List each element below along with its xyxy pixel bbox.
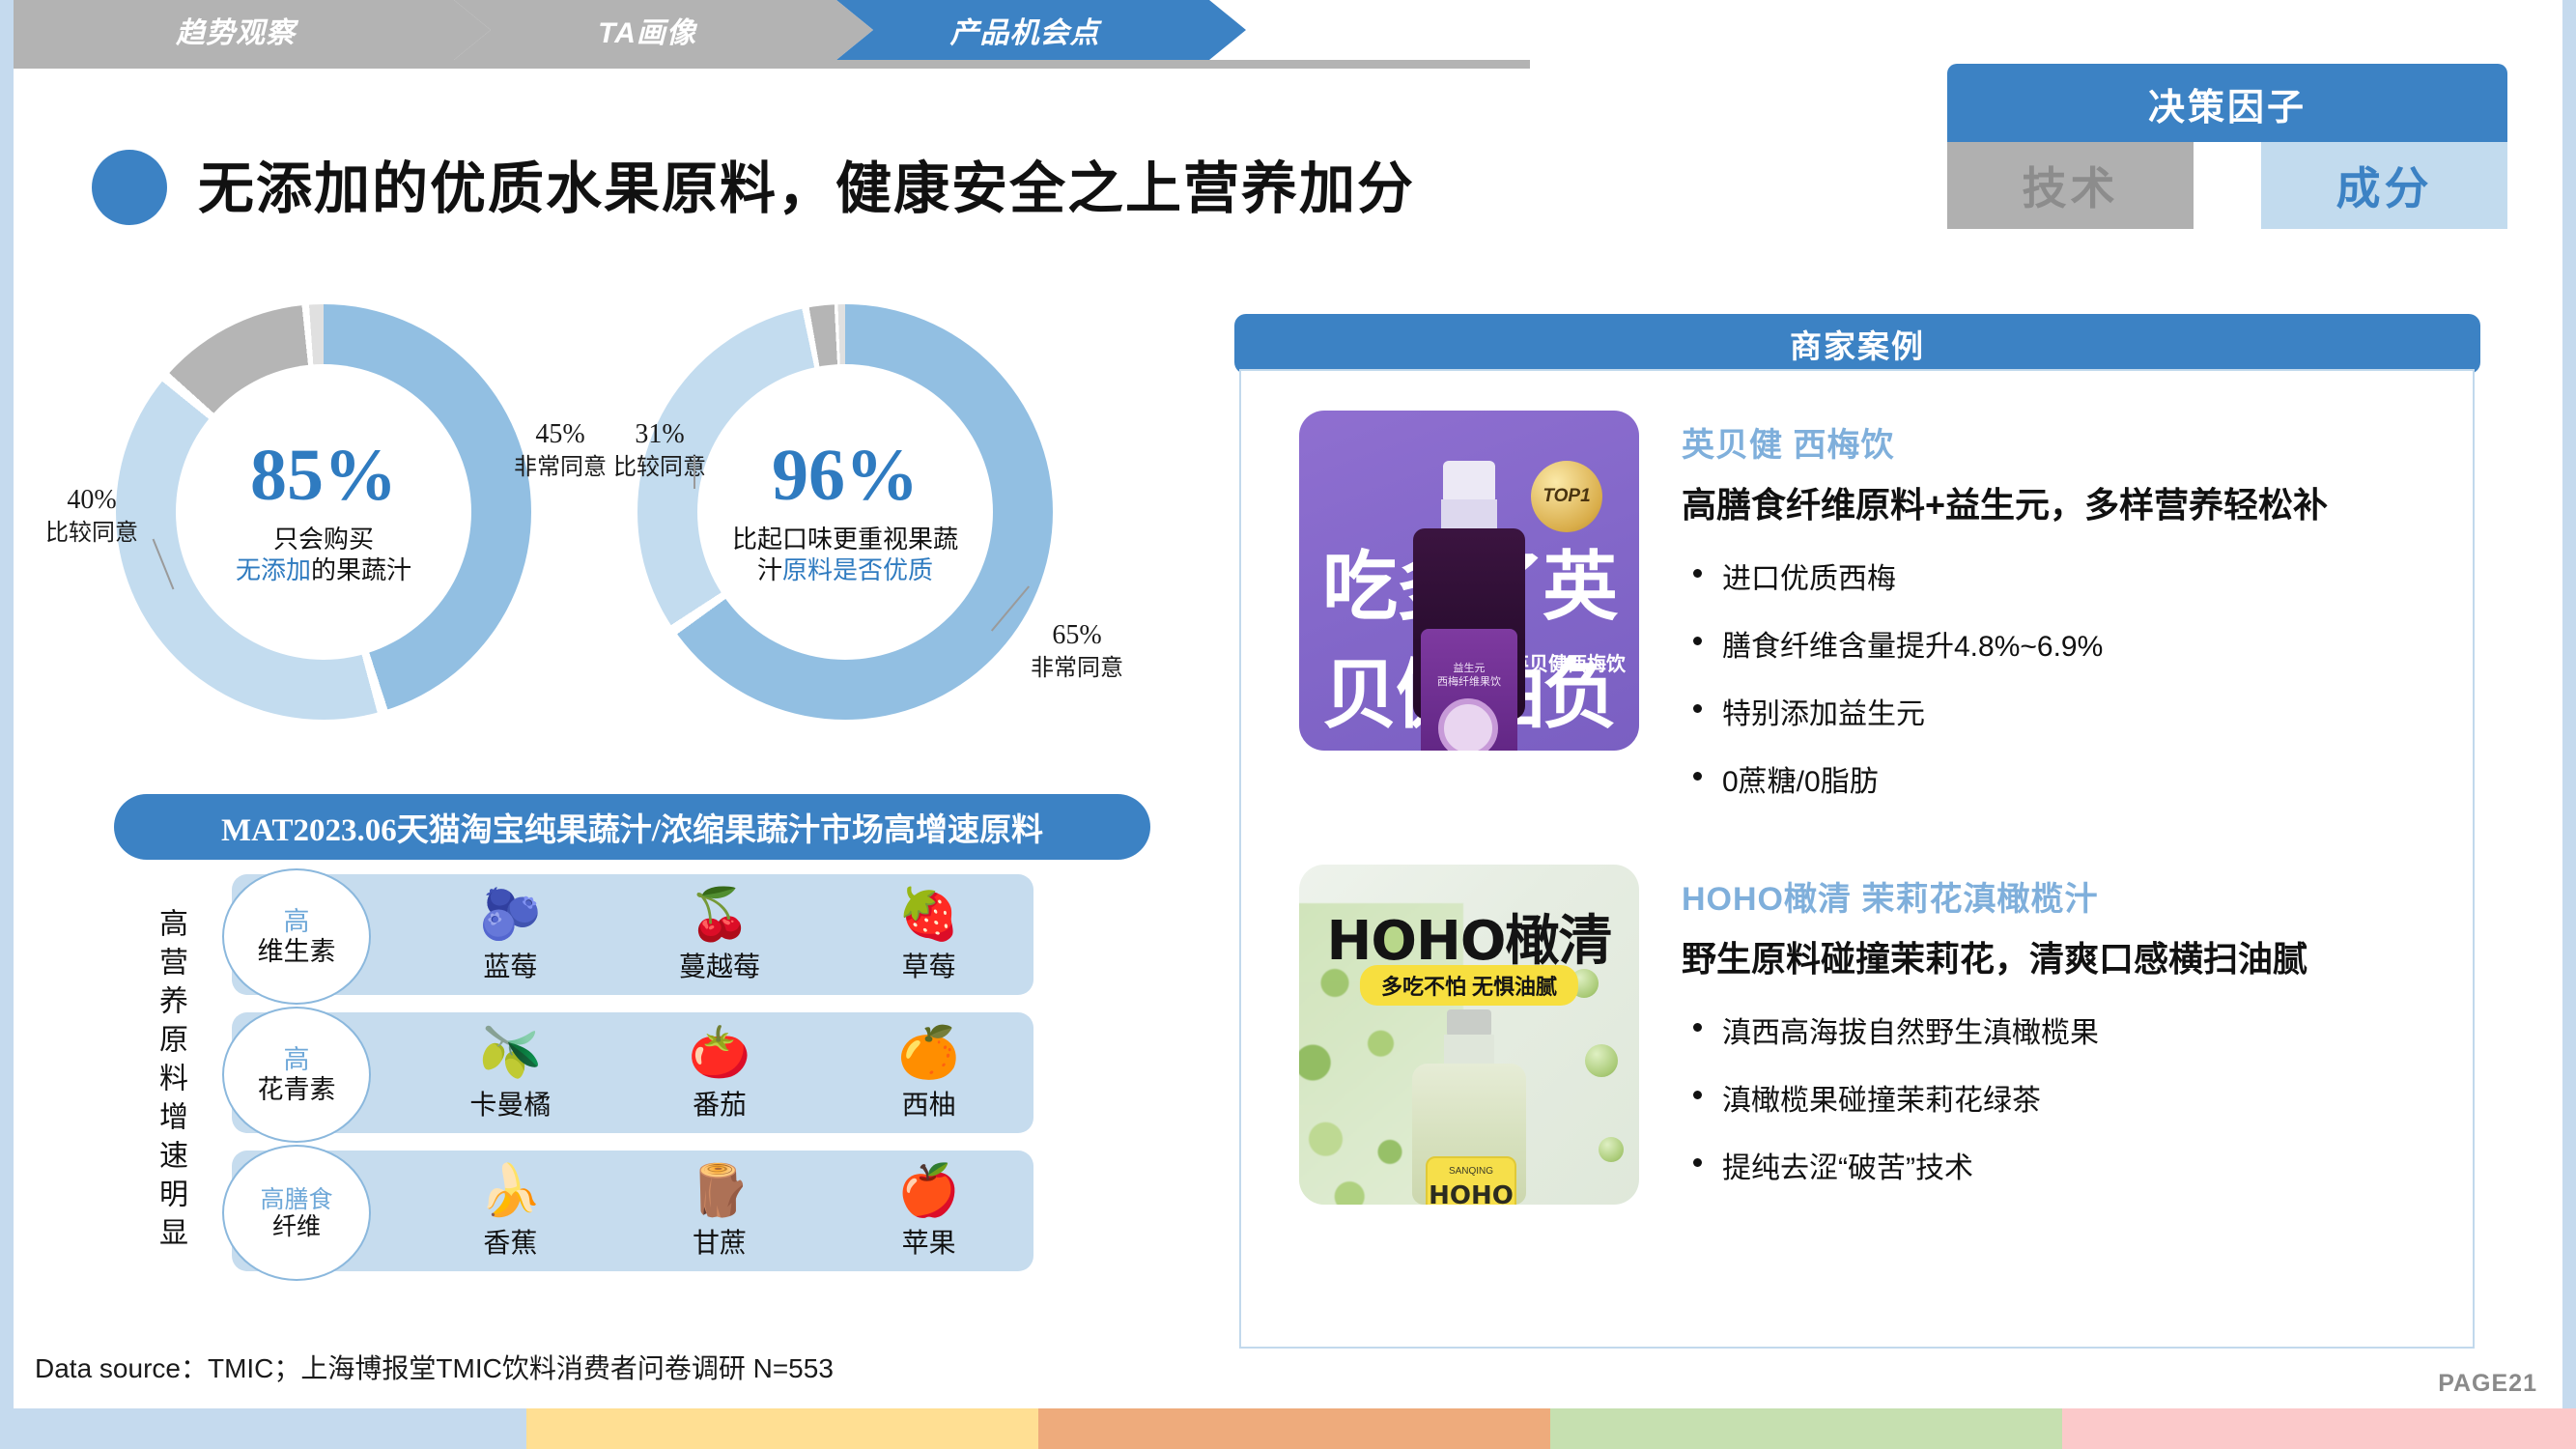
donut-caption-plain: 的果蔬汁 xyxy=(311,555,411,584)
merchant-case-brand: HOHO橄清 茉莉花滇橄榄汁 xyxy=(1682,872,2483,920)
market-vertical-label: 高营养原料增速明显 xyxy=(143,874,197,1290)
ingredient-item[interactable]: 🍎 苹果 xyxy=(824,1162,1033,1261)
bullet-item: 膳食纤维含量提升4.8%~6.9% xyxy=(1682,622,2483,665)
decision-option-ingredient[interactable]: 成分 xyxy=(2261,142,2507,229)
olive-berry-icon xyxy=(1599,1137,1624,1162)
donut-caption-line2: 汁原料是否优质 xyxy=(732,554,958,586)
bullet-item: 进口优质西梅 xyxy=(1682,554,2483,597)
bullet-item: 滇西高海拔自然野生滇橄榄果 xyxy=(1682,1009,2483,1051)
plum-graphic-icon xyxy=(1438,698,1498,751)
ingredient-category-badge: 高 花青素 xyxy=(222,1007,371,1143)
donut1-label-somewhat-agree: 40% 比较同意 xyxy=(19,483,164,549)
donut-center-caption: 只会购买 无添加的果蔬汁 xyxy=(236,524,411,586)
footer-color-bar xyxy=(0,1408,2576,1449)
category-name: 维生素 xyxy=(258,937,336,966)
donut2-leader-line xyxy=(694,456,695,489)
bottle-icon: SANQING HOHO 茉莉花滇橄榄汁饮料 xyxy=(1412,1009,1526,1203)
donut2-label-somewhat-agree: 31% 比较同意 xyxy=(587,417,732,483)
bullet-item: 0蔗糖/0脂肪 xyxy=(1682,757,2483,800)
donut1-label-text: 比较同意 xyxy=(19,518,164,548)
donut2-label-pct: 65% xyxy=(995,618,1159,653)
cranberry-icon: 🍒 xyxy=(689,886,751,944)
ingredient-table: 高 维生素 🫐 蓝莓 🍒 蔓越莓 🍓 草莓 高 xyxy=(232,874,1033,1289)
category-prefix: 高膳食 xyxy=(260,1186,332,1213)
ingredient-item[interactable]: 🍓 草莓 xyxy=(824,886,1033,984)
ingredient-item[interactable]: 🍌 香蕉 xyxy=(406,1162,615,1261)
ingredient-name: 香蕉 xyxy=(483,1222,537,1261)
footer-color-segment xyxy=(0,1408,526,1449)
merchant-case-body: 英贝健 西梅饮 高膳食纤维原料+益生元，多样营养轻松补 进口优质西梅 膳食纤维含… xyxy=(1682,411,2483,825)
donut-caption-highlight: 原料是否优质 xyxy=(782,555,933,584)
nav-item-label: 产品机会点 xyxy=(950,9,1100,51)
merchant-case-tagline: 高膳食纤维原料+益生元，多样营养轻松补 xyxy=(1682,477,2483,527)
decision-factor-title: 决策因子 xyxy=(1947,64,2507,142)
ingredient-item[interactable]: 🍊 西柚 xyxy=(824,1024,1033,1122)
donut-center-value: 85% xyxy=(250,439,397,512)
ingredient-item[interactable]: 🫐 蓝莓 xyxy=(406,886,615,984)
bottle-body: 益生元 西梅纤维果饮 净含量:500mL xyxy=(1413,528,1525,720)
hoho-logo: HOHO xyxy=(1428,1181,1514,1205)
banana-icon: 🍌 xyxy=(479,1162,542,1220)
merchant-case-tagline: 野生原料碰撞茉莉花，清爽口感横扫油腻 xyxy=(1682,931,2483,981)
donut-ring: 96% 比起口味更重视果蔬 汁原料是否优质 xyxy=(637,304,1053,720)
chevron-right-icon xyxy=(836,0,873,60)
ingredient-name: 草莓 xyxy=(902,946,956,984)
ingredient-item[interactable]: 🍒 蔓越莓 xyxy=(615,886,825,984)
nav-item-product-opportunity[interactable]: 产品机会点 xyxy=(836,0,1209,60)
bullet-item: 滇橄榄果碰撞茉莉花绿茶 xyxy=(1682,1076,2483,1119)
bottle-label: SANQING HOHO 茉莉花滇橄榄汁饮料 xyxy=(1426,1156,1516,1205)
category-name: 花青素 xyxy=(258,1075,336,1104)
donut-caption-highlight: 无添加 xyxy=(236,555,311,584)
hoho-olive-juice-product-image[interactable]: HOHO橄清 多吃不怕 无惧油腻 SANQING HOHO 茉莉花滇橄榄汁饮料 xyxy=(1299,865,1639,1205)
grapefruit-icon: 🍊 xyxy=(897,1024,960,1082)
blueberry-icon: 🫐 xyxy=(479,886,542,944)
footer-color-segment xyxy=(1550,1408,2062,1449)
ingredient-category-badge: 高 维生素 xyxy=(222,868,371,1005)
apple-icon: 🍎 xyxy=(897,1162,960,1220)
strawberry-icon: 🍓 xyxy=(897,886,960,944)
donut-center-value: 96% xyxy=(772,439,919,512)
product-image-pill: 多吃不怕 无惧油腻 xyxy=(1360,965,1578,1006)
chevron-right-icon xyxy=(1209,0,1246,60)
decision-factor-options: 技术 成分 xyxy=(1947,142,2507,229)
ingredient-name: 西柚 xyxy=(902,1084,956,1122)
bottle-neck xyxy=(1444,1035,1494,1067)
bottle-cap xyxy=(1443,461,1495,501)
product-image-headline: HOHO橄清 xyxy=(1299,897,1639,976)
donut-caption-line1: 只会购买 xyxy=(236,524,411,555)
ingredient-item[interactable]: 🫒 卡曼橘 xyxy=(406,1024,615,1122)
ingredient-category-badge: 高膳食 纤维 xyxy=(222,1145,371,1281)
market-banner: MAT2023.06天猫淘宝纯果蔬汁/浓缩果蔬汁市场高增速原料 xyxy=(114,794,1150,860)
footer-color-segment xyxy=(1038,1408,1550,1449)
sugarcane-icon: 🪵 xyxy=(689,1162,751,1220)
page-edge-right xyxy=(2562,0,2576,1449)
nav-item-ta-profile[interactable]: TA画像 xyxy=(454,0,836,60)
label-line-2: 西梅纤维果饮 xyxy=(1421,675,1517,689)
merchant-case-body: HOHO橄清 茉莉花滇橄榄汁 野生原料碰撞茉莉花，清爽口感横扫油腻 滇西高海拔自… xyxy=(1682,865,2483,1211)
merchant-case-item: HOHO橄清 多吃不怕 无惧油腻 SANQING HOHO 茉莉花滇橄榄汁饮料 … xyxy=(1299,865,2483,1211)
ingredient-item[interactable]: 🪵 甘蔗 xyxy=(615,1162,825,1261)
donut-caption-plain: 汁 xyxy=(757,555,782,584)
prune-drink-product-image[interactable]: 吃多了英贝健怕负担 喝英贝健西梅饮 TOP1 益生元 西梅纤维果饮 净含量:50… xyxy=(1299,411,1639,751)
decision-option-technology[interactable]: 技术 xyxy=(1947,142,2194,229)
merchant-case-brand: 英贝健 西梅饮 xyxy=(1682,418,2483,466)
ingredient-items: 🫐 蓝莓 🍒 蔓越莓 🍓 草莓 xyxy=(406,886,1033,984)
category-name: 纤维 xyxy=(272,1213,321,1240)
ingredient-name: 卡曼橘 xyxy=(469,1084,551,1122)
footer-color-segment xyxy=(2062,1408,2576,1449)
decision-factor-panel: 决策因子 技术 成分 xyxy=(1947,64,2507,229)
nav-item-label: TA画像 xyxy=(598,9,696,51)
donut2-label-text: 非常同意 xyxy=(995,653,1159,683)
olive-berry-icon xyxy=(1585,1044,1618,1077)
donut-center: 96% 比起口味更重视果蔬 汁原料是否优质 xyxy=(697,364,993,660)
ingredient-row-fiber: 高膳食 纤维 🍌 香蕉 🪵 甘蔗 🍎 苹果 xyxy=(232,1151,1033,1271)
donut1-label-pct: 40% xyxy=(19,483,164,518)
donut2-label-pct: 31% xyxy=(587,417,732,452)
slide-root: 趋势观察 TA画像 产品机会点 决策因子 技术 成分 无添加的优质水果原料，健康… xyxy=(0,0,2576,1449)
donut-caption-line2: 无添加的果蔬汁 xyxy=(236,554,411,586)
bottle-icon: 益生元 西梅纤维果饮 净含量:500mL xyxy=(1413,461,1525,720)
donut-chart-raw-material: 96% 比起口味更重视果蔬 汁原料是否优质 31% 比较同意 65% 非常同意 xyxy=(0,0,415,415)
chevron-right-icon xyxy=(454,0,491,60)
merchant-case-bullets: 滇西高海拔自然野生滇橄榄果 滇橄榄果碰撞茉莉花绿茶 提纯去涩“破苦”技术 xyxy=(1682,1009,2483,1186)
ingredient-name: 蓝莓 xyxy=(483,946,537,984)
calamansi-icon: 🫒 xyxy=(479,1024,542,1082)
donut2-label-text: 比较同意 xyxy=(587,452,732,482)
ingredient-name: 甘蔗 xyxy=(693,1222,747,1261)
ingredient-row-vitamin: 高 维生素 🫐 蓝莓 🍒 蔓越莓 🍓 草莓 xyxy=(232,874,1033,995)
label-line-1: 益生元 xyxy=(1421,662,1517,675)
category-prefix: 高 xyxy=(284,1045,310,1074)
ingredient-items: 🍌 香蕉 🪵 甘蔗 🍎 苹果 xyxy=(406,1162,1033,1261)
decision-option-gap xyxy=(2194,142,2261,229)
category-prefix: 高 xyxy=(284,907,310,936)
bullet-item: 特别添加益生元 xyxy=(1682,690,2483,732)
top1-badge-icon: TOP1 xyxy=(1531,461,1602,532)
ingredient-items: 🫒 卡曼橘 🍅 番茄 🍊 西柚 xyxy=(406,1024,1033,1122)
tomato-icon: 🍅 xyxy=(689,1024,751,1082)
donut2-label-strongly-agree: 65% 非常同意 xyxy=(995,618,1159,684)
bottle-body: SANQING HOHO 茉莉花滇橄榄汁饮料 xyxy=(1412,1064,1526,1205)
donut-caption-line1: 比起口味更重视果蔬 xyxy=(732,524,958,555)
ingredient-row-anthocyanin: 高 花青素 🫒 卡曼橘 🍅 番茄 🍊 西柚 xyxy=(232,1012,1033,1133)
ingredient-name: 苹果 xyxy=(902,1222,956,1261)
merchant-case-bullets: 进口优质西梅 膳食纤维含量提升4.8%~6.9% 特别添加益生元 0蔗糖/0脂肪 xyxy=(1682,554,2483,800)
merchant-case-item: 吃多了英贝健怕负担 喝英贝健西梅饮 TOP1 益生元 西梅纤维果饮 净含量:50… xyxy=(1299,411,2483,825)
ingredient-item[interactable]: 🍅 番茄 xyxy=(615,1024,825,1122)
ingredient-name: 番茄 xyxy=(693,1084,747,1122)
page-number: PAGE21 xyxy=(2438,1370,2537,1398)
label-brand-small: SANQING xyxy=(1428,1166,1514,1177)
merchant-cases-header: 商家案例 xyxy=(1234,314,2480,374)
ingredient-name: 蔓越莓 xyxy=(679,946,760,984)
bottle-label: 益生元 西梅纤维果饮 净含量:500mL xyxy=(1421,629,1517,751)
donut-center-caption: 比起口味更重视果蔬 汁原料是否优质 xyxy=(732,524,958,586)
bottle-cap xyxy=(1447,1009,1491,1037)
bottle-label-text: 益生元 西梅纤维果饮 xyxy=(1421,662,1517,690)
footer-color-segment xyxy=(526,1408,1038,1449)
data-source-note: Data source：TMIC；上海博报堂TMIC饮料消费者问卷调研 N=55… xyxy=(35,1348,834,1386)
bullet-item: 提纯去涩“破苦”技术 xyxy=(1682,1144,2483,1186)
